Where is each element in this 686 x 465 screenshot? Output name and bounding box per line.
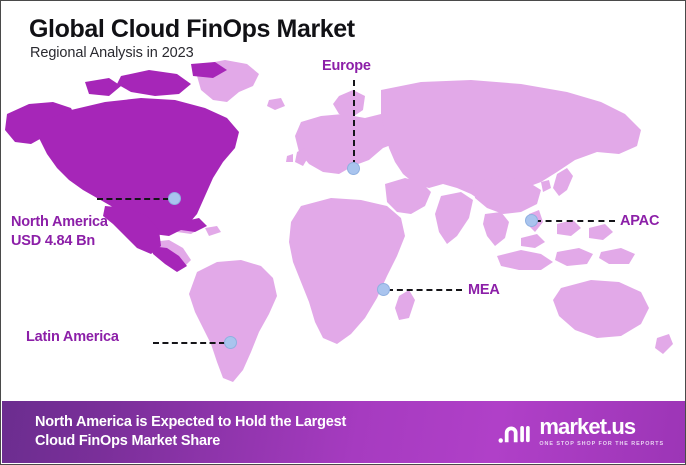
region-label-apac-text: APAC (620, 213, 659, 229)
leader-line-mea (387, 289, 462, 291)
region-label-mea: MEA (468, 282, 500, 298)
region-value-north-america: USD 4.84 Bn (11, 232, 108, 251)
region-label-north-america-text: North America (11, 214, 108, 230)
marker-dot-europe (347, 162, 360, 175)
marker-dot-north-america (168, 192, 181, 205)
marker-dot-latin-america (224, 336, 237, 349)
brand-logo[interactable]: market.us ONE STOP SHOP FOR THE REPORTS (498, 416, 664, 448)
infographic-card: Global Cloud FinOps Market Regional Anal… (0, 0, 686, 465)
leader-line-europe (353, 80, 355, 166)
leader-line-latin-america (153, 342, 225, 344)
region-label-europe: Europe (322, 58, 371, 74)
marker-dot-mea (377, 283, 390, 296)
brand-tagline: ONE STOP SHOP FOR THE REPORTS (539, 440, 664, 448)
market-us-logo-icon (498, 419, 532, 445)
marker-dot-apac (525, 214, 538, 227)
leader-line-apac (535, 220, 615, 222)
region-label-latin-america-text: Latin America (26, 329, 119, 345)
banner-message-line1: North America is Expected to Hold the La… (35, 413, 346, 432)
region-label-north-america: North America USD 4.84 Bn (11, 213, 108, 251)
region-label-apac: APAC (620, 213, 659, 229)
banner-message-line2: Cloud FinOps Market Share (35, 432, 346, 451)
region-label-europe-text: Europe (322, 58, 371, 74)
footer-banner: North America is Expected to Hold the La… (2, 401, 686, 463)
leader-line-north-america (97, 198, 169, 200)
banner-message: North America is Expected to Hold the La… (35, 413, 346, 451)
region-label-mea-text: MEA (468, 282, 500, 298)
brand-name: market.us (539, 416, 664, 438)
region-label-latin-america: Latin America (26, 329, 119, 345)
brand-logo-text: market.us ONE STOP SHOP FOR THE REPORTS (539, 416, 664, 448)
page-title: Global Cloud FinOps Market (29, 15, 355, 44)
